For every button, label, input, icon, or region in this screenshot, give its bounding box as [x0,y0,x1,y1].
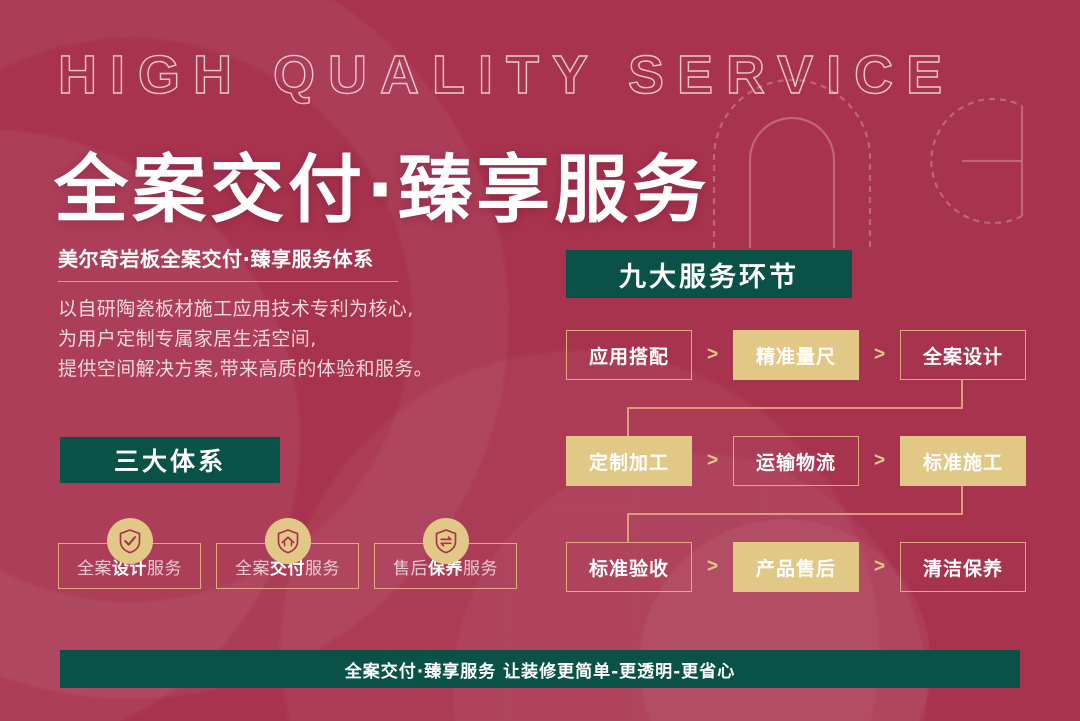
flow-arrow-1: > [692,330,732,380]
system-badge-delivery[interactable]: 全案交付服务 [216,543,359,589]
flow-node-1[interactable]: 应用搭配 [566,330,692,380]
flow-arrow-4: > [859,436,899,486]
flow-node-9[interactable]: 清洁保养 [900,542,1026,592]
flow-arrow-5: > [692,542,732,592]
three-systems-group: 全案设计服务 全案交付服务 售后保养服务 [58,543,528,605]
english-headline: HIGH QUALITY SERVICE [58,44,955,106]
intro-divider [58,281,398,282]
section-heading-three-systems: 三大体系 [60,437,280,483]
flow-node-6[interactable]: 标准施工 [900,436,1026,486]
footer-slogan: 全案交付·臻享服务 让装修更简单-更透明-更省心 [345,657,736,682]
page-title: 全案交付·臻享服务 [54,153,710,227]
flow-node-4[interactable]: 定制加工 [566,436,692,486]
nine-steps-flow: 应用搭配 > 精准量尺 > 全案设计 定制加工 > 运输物流 > 标准施工 标准… [566,330,1026,600]
system-badge-maintenance[interactable]: 售后保养服务 [374,543,517,589]
intro-line: 提供空间解决方案,带来高质的体验和服务。 [58,354,510,384]
poster-canvas: HIGH QUALITY SERVICE 全案交付·臻享服务 美尔奇岩板全案交付… [0,0,1080,721]
flow-arrow-3: > [692,436,732,486]
flow-arrow-2: > [859,330,899,380]
footer-bar: 全案交付·臻享服务 让装修更简单-更透明-更省心 [60,650,1020,688]
section-heading-nine-steps: 九大服务环节 [566,250,852,298]
intro-line: 为用户定制专属家居生活空间, [58,324,510,354]
flow-arrow-6: > [859,542,899,592]
flow-node-7[interactable]: 标准验收 [566,542,692,592]
intro-title: 美尔奇岩板全案交付·臻享服务体系 [58,243,510,272]
shield-check-icon [107,518,153,564]
flow-node-8[interactable]: 产品售后 [733,542,859,592]
shield-exchange-icon [423,518,469,564]
flow-node-5[interactable]: 运输物流 [733,436,859,486]
intro-block: 美尔奇岩板全案交付·臻享服务体系 以自研陶瓷板材施工应用技术专利为核心, 为用户… [58,243,510,384]
flow-node-3[interactable]: 全案设计 [900,330,1026,380]
flow-node-2[interactable]: 精准量尺 [733,330,859,380]
intro-line: 以自研陶瓷板材施工应用技术专利为核心, [58,294,510,324]
intro-body: 以自研陶瓷板材施工应用技术专利为核心, 为用户定制专属家居生活空间, 提供空间解… [58,294,510,384]
system-badge-design[interactable]: 全案设计服务 [58,543,201,589]
shield-home-icon [265,518,311,564]
